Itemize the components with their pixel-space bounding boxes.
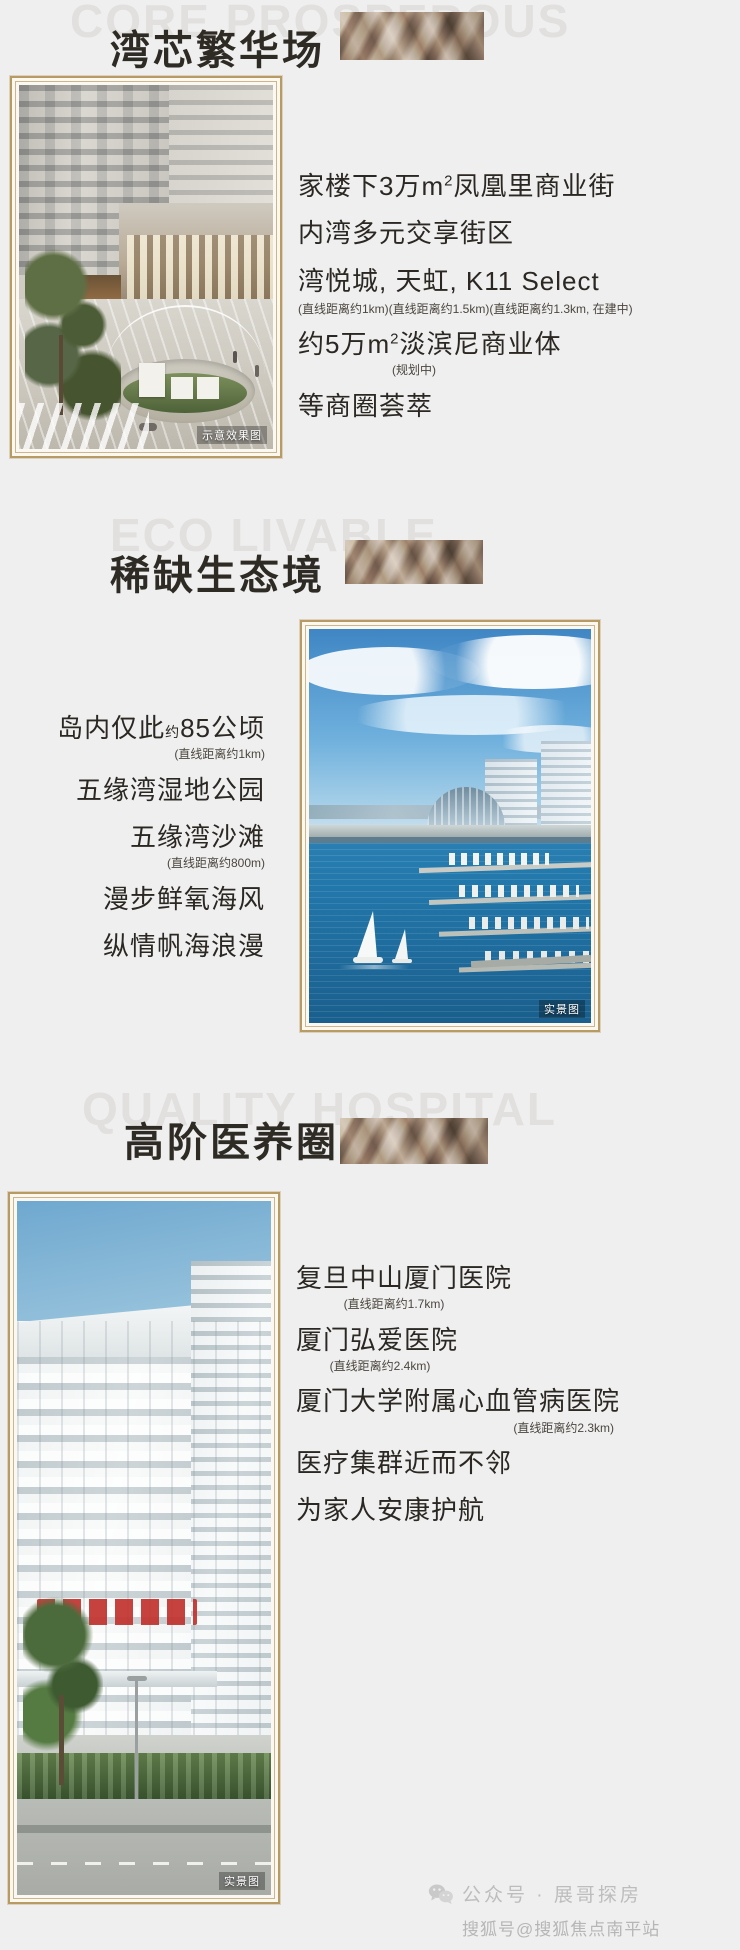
section-1-line-1: 家楼下3万m2凤凰里商业街 xyxy=(298,170,598,203)
section-2-photo-caption: 实景图 xyxy=(539,1000,585,1018)
section-2-photo-frame: 实景图 xyxy=(300,620,600,1032)
poster-page: CORE PROSPEROUS 湾芯繁华场 xyxy=(0,0,740,1950)
section-1-note-4: (规划中) xyxy=(298,363,530,377)
section-3-heading: 高阶医养圈 xyxy=(124,1110,339,1168)
section-3-line-1: 复旦中山厦门医院 xyxy=(296,1262,716,1295)
section-1-line-2: 内湾多元交享街区 xyxy=(298,217,598,250)
wechat-icon xyxy=(428,1883,454,1905)
section-2-note-3: (直线距离约800m) xyxy=(40,856,265,870)
section-2-line-1: 岛内仅此约85公顷 xyxy=(40,712,265,745)
section-3-line-2: 厦门弘爱医院 xyxy=(296,1324,716,1357)
section-3-note-3: (直线距离约2.3km) xyxy=(296,1421,614,1435)
footer-wechat-label: 公众号 · 展哥探房 xyxy=(462,1880,642,1907)
section-3-photo: 实景图 xyxy=(17,1201,271,1895)
section-2-note-1: (直线距离约1km) xyxy=(40,747,265,761)
section-3-note-1: (直线距离约1.7km) xyxy=(296,1297,492,1311)
section-1-heading: 湾芯繁华场 xyxy=(110,18,325,76)
section-1-note-3: (直线距离约1km)(直线距离约1.5km)(直线距离约1.3km, 在建中) xyxy=(298,302,598,316)
section-3-marble-bar xyxy=(340,1118,488,1164)
section-2-photo: 实景图 xyxy=(309,629,591,1023)
section-3-line-5: 为家人安康护航 xyxy=(296,1494,716,1527)
section-3-photo-caption: 实景图 xyxy=(219,1872,265,1890)
section-3-text-column: 复旦中山厦门医院 (直线距离约1.7km) 厦门弘爱医院 (直线距离约2.4km… xyxy=(296,1262,716,1542)
section-2-line-4: 漫步鲜氧海风 xyxy=(40,883,265,916)
section-3-photo-frame: 实景图 xyxy=(8,1192,280,1904)
section-3-line-3: 厦门大学附属心血管病医院 xyxy=(296,1385,716,1418)
section-2-text-column: 岛内仅此约85公顷 (直线距离约1km) 五缘湾湿地公园 五缘湾沙滩 (直线距离… xyxy=(40,712,265,977)
section-2-heading: 稀缺生态境 xyxy=(110,543,325,601)
section-1-line-5: 等商圈荟萃 xyxy=(298,390,598,423)
section-2-line-3: 五缘湾沙滩 xyxy=(40,821,265,854)
section-1-line-4: 约5万m2淡滨尼商业体 xyxy=(298,328,598,361)
footer-wechat-watermark: 公众号 · 展哥探房 xyxy=(428,1880,642,1907)
section-2-line-5: 纵情帆海浪漫 xyxy=(40,930,265,963)
section-3-note-2: (直线距离约2.4km) xyxy=(296,1359,464,1373)
section-2-marble-bar xyxy=(345,540,483,584)
section-1-photo-frame: 示意效果图 xyxy=(10,76,282,458)
section-1-photo: 示意效果图 xyxy=(19,85,273,449)
footer-sohu-watermark: 搜狐号@搜狐焦点南平站 xyxy=(462,1915,660,1940)
section-1-text-column: 家楼下3万m2凤凰里商业街 内湾多元交享街区 湾悦城, 天虹, K11 Sele… xyxy=(298,170,598,437)
section-1-marble-bar xyxy=(340,12,484,60)
section-1-photo-caption: 示意效果图 xyxy=(197,426,267,444)
section-3-line-4: 医疗集群近而不邻 xyxy=(296,1447,716,1480)
section-1-line-3: 湾悦城, 天虹, K11 Select xyxy=(298,265,598,298)
section-2-line-2: 五缘湾湿地公园 xyxy=(40,774,265,807)
